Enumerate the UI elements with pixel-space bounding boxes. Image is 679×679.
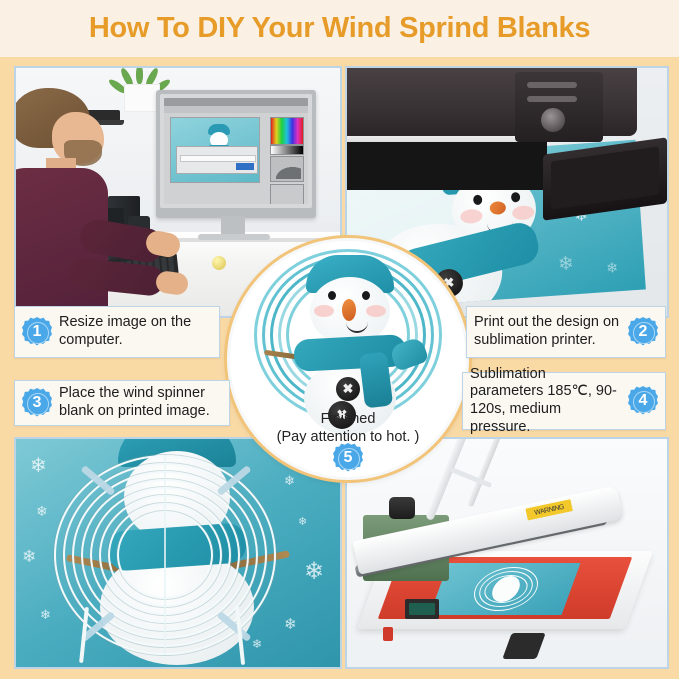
histogram-panel [270, 156, 304, 182]
step-badge-2-number: 2 [639, 324, 648, 340]
monitor-stand [221, 216, 245, 236]
step-badge-4-number: 4 [639, 393, 648, 409]
finished-snowman-eye-left [328, 291, 336, 300]
printer-vent-slot [527, 96, 577, 102]
snowflake-icon: ❄ [36, 503, 48, 520]
step-2-text: Print out the design on sublimation prin… [474, 314, 621, 349]
step-badge-3: 3 [22, 388, 52, 418]
control-panel [405, 599, 439, 619]
resize-dialog [176, 146, 258, 174]
power-switch [383, 627, 393, 641]
step-badge-1-number: 1 [33, 324, 42, 340]
ornament-ball [212, 256, 226, 270]
pressure-knob [389, 497, 415, 519]
printer-vent-slot [527, 82, 577, 88]
gradient-strip [270, 145, 304, 155]
snowflake-icon: ❄ [30, 453, 47, 478]
dialog-field-row [180, 155, 256, 162]
step-1-caption-box: 1 Resize image on the computer. [14, 306, 220, 358]
finished-snowman-button-upper: ✖ [336, 377, 360, 401]
image-editor-window [164, 98, 308, 204]
step-2-caption-box: Print out the design on sublimation prin… [466, 306, 666, 358]
printer-feed-slot [345, 142, 547, 190]
snowflake-icon: ❄ [557, 252, 574, 276]
step-1-text: Resize image on the computer. [59, 314, 212, 349]
finished-caption: Finished (Pay attention to hot. ) [230, 411, 466, 447]
step-4-text: Sublimation parameters 185℃, 90-120s, me… [470, 366, 621, 437]
layers-panel [270, 184, 304, 204]
printer-power-button [541, 108, 565, 132]
editor-toolbar [164, 106, 308, 113]
monitor-base [198, 234, 270, 240]
snowflake-icon: ❄ [298, 515, 307, 528]
color-palette-panel [270, 117, 304, 145]
header-bar: How To DIY Your Wind Sprind Blanks [0, 0, 679, 57]
finished-snowman-cheek-left [314, 305, 334, 317]
printer-control-panel [515, 72, 603, 142]
finished-wind-spinner: ✖ ✖ [254, 249, 442, 421]
temperature-display [409, 603, 435, 615]
finished-snowman-eye-right [362, 291, 370, 300]
monitor [156, 90, 316, 218]
finished-snowman-cheek-right [366, 305, 386, 317]
snowflake-icon: ❄ [606, 259, 619, 277]
infographic-page: How To DIY Your Wind Sprind Blanks [0, 0, 679, 679]
step-4-caption-box: Sublimation parameters 185℃, 90-120s, me… [462, 372, 666, 430]
snowflake-icon: ❄ [22, 547, 36, 567]
snowflake-icon: ❄ [304, 557, 324, 586]
step-badge-2: 2 [628, 317, 658, 347]
snowflake-icon: ❄ [284, 615, 297, 633]
editor-menubar [164, 98, 308, 106]
finished-caption-line-1: Finished [230, 411, 466, 429]
step-badge-4: 4 [628, 386, 658, 416]
wind-spinner-blank [54, 455, 276, 655]
dialog-ok-button [236, 163, 254, 170]
step-3-caption-box: 3 Place the wind spinner blank on printe… [14, 380, 230, 426]
person-at-computer [14, 86, 156, 316]
step-badge-3-number: 3 [33, 395, 42, 411]
step-badge-5-number: 5 [344, 450, 353, 466]
step-5-badge-wrapper: 5 [230, 443, 466, 473]
step-3-text: Place the wind spinner blank on printed … [59, 385, 222, 420]
finished-product-scene: ✖ ✖ Finished (Pay attention to hot. ) 5 [230, 241, 466, 477]
finished-product-circle: ✖ ✖ Finished (Pay attention to hot. ) 5 [227, 238, 469, 480]
step-badge-1: 1 [22, 317, 52, 347]
finished-snowman-scarf [293, 334, 407, 372]
step-badge-5: 5 [333, 443, 363, 473]
page-title: How To DIY Your Wind Sprind Blanks [89, 12, 590, 45]
spinner-center-axis [164, 455, 166, 655]
finished-snowman-carrot-nose [342, 299, 356, 321]
snowflake-icon: ❄ [40, 607, 51, 623]
